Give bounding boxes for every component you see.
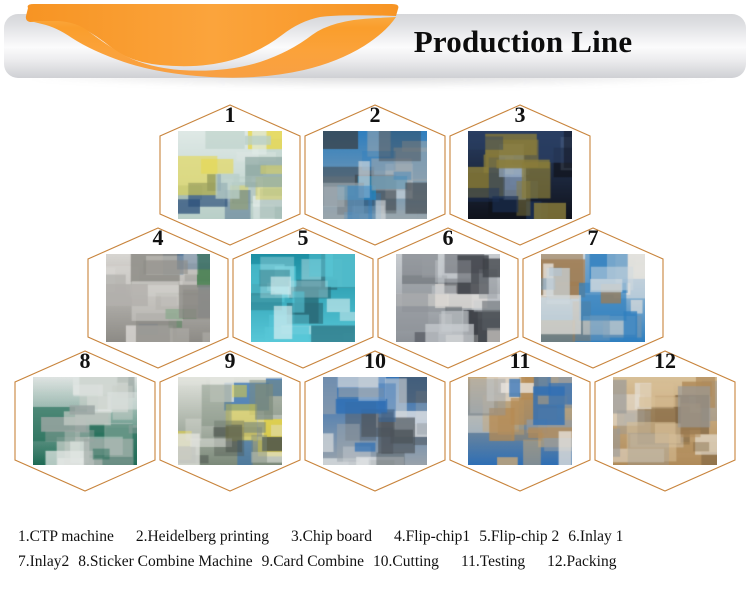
legend-line-1: 1.CTP machine2.Heidelberg printing3.Chip… — [4, 524, 746, 549]
hexagon-step-number: 10 — [300, 349, 450, 373]
packing-photo — [613, 377, 717, 465]
legend-item: 8.Sticker Combine Machine — [78, 549, 252, 574]
hexagon-step-number: 2 — [300, 103, 450, 127]
page-header: Production Line — [0, 0, 750, 100]
legend-item: 12.Packing — [547, 549, 616, 574]
hexagon-step-number: 9 — [155, 349, 305, 373]
hexagon-step-number: 11 — [445, 349, 595, 373]
process-legend: 1.CTP machine2.Heidelberg printing3.Chip… — [0, 524, 750, 574]
production-line-hexagon-grid: 123456789101112 — [0, 100, 750, 505]
hexagon-step-number: 7 — [518, 226, 668, 250]
card-combine-photo — [178, 377, 282, 465]
hexagon-step-number: 8 — [10, 349, 160, 373]
flip-chip-2-photo — [251, 254, 355, 342]
sticker-combine-machine-photo — [33, 377, 137, 465]
page-title: Production Line — [358, 22, 688, 62]
hexagon-cell-12[interactable]: 12 — [590, 346, 740, 496]
legend-item: 9.Card Combine — [262, 549, 364, 574]
flip-chip-1-photo — [106, 254, 210, 342]
legend-item: 10.Cutting — [373, 549, 439, 574]
inlay-1-photo — [396, 254, 500, 342]
legend-item: 3.Chip board — [291, 524, 372, 549]
hexagon-step-number: 4 — [83, 226, 233, 250]
legend-item: 11.Testing — [461, 549, 525, 574]
hexagon-cell-10[interactable]: 10 — [300, 346, 450, 496]
testing-photo — [468, 377, 572, 465]
legend-item: 7.Inlay2 — [18, 549, 69, 574]
hexagon-cell-9[interactable]: 9 — [155, 346, 305, 496]
hexagon-cell-8[interactable]: 8 — [10, 346, 160, 496]
legend-item: 1.CTP machine — [18, 524, 114, 549]
hexagon-cell-11[interactable]: 11 — [445, 346, 595, 496]
legend-item: 4.Flip-chip1 — [394, 524, 470, 549]
legend-item: 6.Inlay 1 — [568, 524, 623, 549]
hexagon-step-number: 3 — [445, 103, 595, 127]
hexagon-step-number: 12 — [590, 349, 740, 373]
chip-board-photo — [468, 131, 572, 219]
heidelberg-printing-photo — [323, 131, 427, 219]
inlay-2-photo — [541, 254, 645, 342]
cutting-photo — [323, 377, 427, 465]
legend-line-2: 7.Inlay28.Sticker Combine Machine9.Card … — [4, 549, 746, 574]
legend-item: 5.Flip-chip 2 — [479, 524, 559, 549]
ctp-machine-photo — [178, 131, 282, 219]
hexagon-step-number: 1 — [155, 103, 305, 127]
orange-ribbon-decoration — [20, 2, 404, 78]
hexagon-step-number: 5 — [228, 226, 378, 250]
legend-item: 2.Heidelberg printing — [136, 524, 269, 549]
hexagon-step-number: 6 — [373, 226, 523, 250]
